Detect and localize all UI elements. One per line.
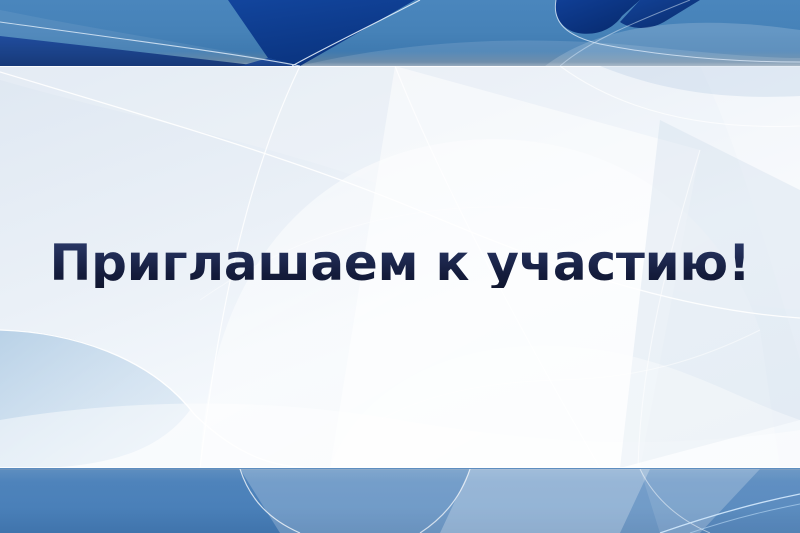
top-separator-line bbox=[0, 66, 800, 67]
bottom-separator-line bbox=[0, 467, 800, 468]
bottom-separator-shadow bbox=[0, 469, 800, 470]
top-band bbox=[0, 0, 800, 66]
slide-title-container: Приглашаем к участию! Приглашаем к участ… bbox=[0, 228, 800, 298]
slide-title: Приглашаем к участию! bbox=[49, 238, 750, 288]
bottom-band bbox=[0, 468, 800, 533]
slide-canvas: Приглашаем к участию! Приглашаем к участ… bbox=[0, 0, 800, 533]
